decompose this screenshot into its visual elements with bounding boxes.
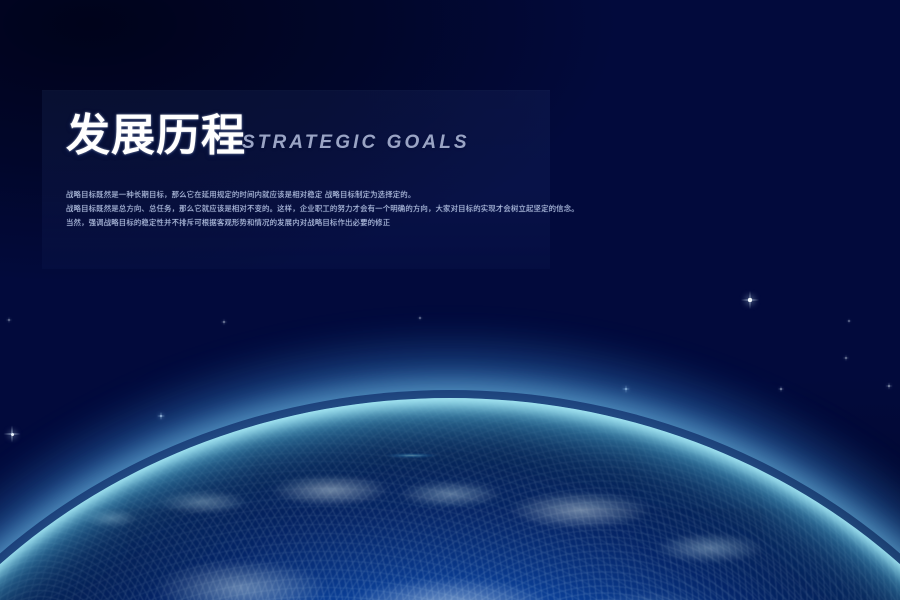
- page-title: 发展历程: [66, 113, 246, 159]
- body-copy-line: 战略目标既然是一种长期目标，那么它在延用规定的时间内就应该是相对稳定 战略目标制…: [66, 188, 526, 202]
- banner-heading: 发展历程 STRATEGIC GOALS: [66, 113, 470, 159]
- earth-globe: [0, 398, 900, 600]
- page-subtitle: STRATEGIC GOALS: [242, 132, 470, 154]
- banner-body-copy: 战略目标既然是一种长期目标，那么它在延用规定的时间内就应该是相对稳定 战略目标制…: [66, 188, 526, 231]
- banner-stage: 发展历程 STRATEGIC GOALS 战略目标既然是一种长期目标，那么它在延…: [0, 0, 900, 600]
- body-copy-line: 当然，强调战略目标的稳定性并不排斥可根据客观形势和情况的发展内对战略目标作出必要…: [66, 216, 526, 230]
- body-copy-line: 战略目标既然是总方向、总任务，那么它就应该是相对不变的。这样，企业职工的努力才会…: [66, 202, 526, 216]
